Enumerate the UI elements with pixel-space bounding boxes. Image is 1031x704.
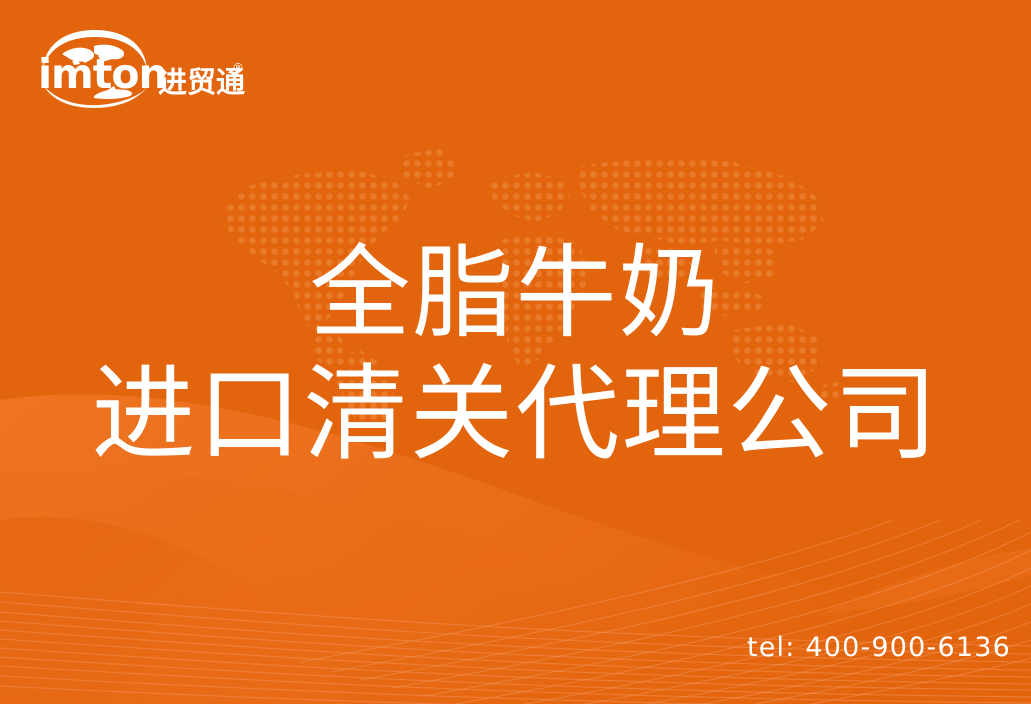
contact-telephone: tel: 400-900-6136 [747, 632, 1011, 664]
headline-block: 全脂牛奶 进口清关代理公司 [0, 232, 1031, 474]
logo-wordmark: imton [38, 53, 154, 95]
promo-banner: imton 进贸通 ® 全脂牛奶 进口清关代理公司 tel: 400-900-6… [0, 0, 1031, 704]
headline-line-2: 进口清关代理公司 [0, 354, 1031, 474]
headline-line-1: 全脂牛奶 [0, 232, 1031, 354]
registered-trademark-icon: ® [232, 62, 244, 74]
line-fan-pattern [0, 520, 1031, 704]
company-logo[interactable]: imton 进贸通 ® [36, 28, 266, 108]
